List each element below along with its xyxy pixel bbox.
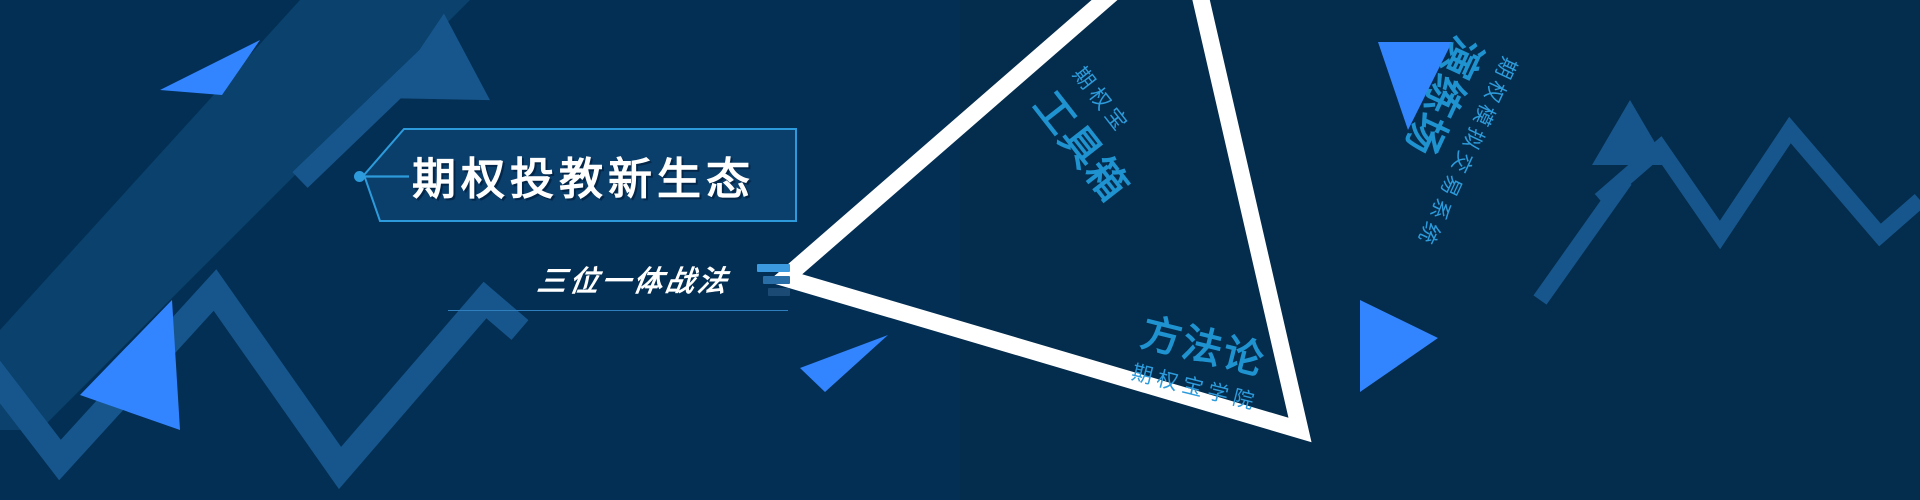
node-dot-icon — [354, 171, 365, 182]
three-bars-icon-bar-2 — [763, 276, 790, 284]
page-title: 期权投教新生态 — [412, 125, 812, 225]
subtitle-divider — [448, 310, 788, 311]
promo-banner: 期权投教新生态 三位一体战法 期权宝 工具箱 期权模拟交易系统 演练场 方法论 … — [0, 0, 1920, 500]
three-bars-icon-bar-3 — [768, 288, 790, 296]
three-bars-icon-bar-1 — [757, 264, 790, 272]
three-bars-icon — [752, 264, 790, 298]
title-block: 期权投教新生态 — [360, 125, 800, 225]
background-decoration-layer — [0, 0, 1920, 500]
node-connector-line — [365, 175, 409, 178]
subtitle-text: 三位一体战法 — [535, 258, 734, 300]
subtitle-block: 三位一体战法 — [440, 258, 790, 318]
